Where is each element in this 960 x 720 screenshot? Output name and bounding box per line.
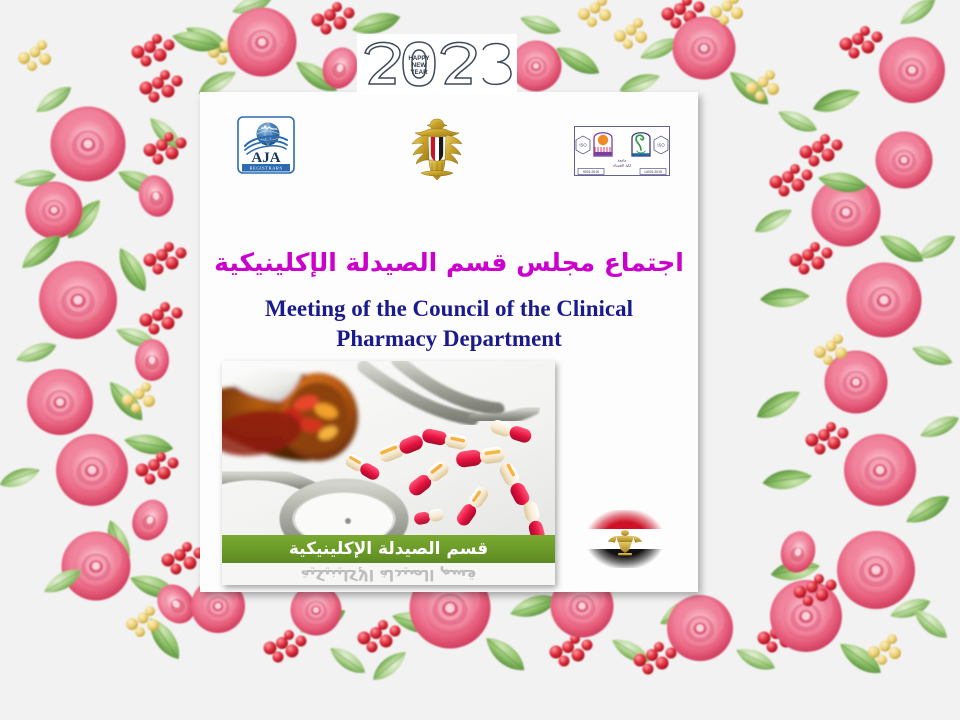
aja-acronym: AJA (251, 150, 280, 166)
university-faculty-logo: ISO ISO جامعة كل (574, 126, 670, 176)
banner-greeting-line3: YEAR (410, 69, 428, 76)
egypt-eagle-emblem (407, 116, 467, 182)
egypt-shield-icon (431, 137, 443, 162)
iso-right-label: ISO (657, 143, 665, 148)
aja-registrars-logo: AJA REGISTRARS (237, 116, 295, 174)
banner-greeting-line1: HAPPY (408, 55, 430, 62)
iso-code-right: 14001:2015 (644, 170, 662, 174)
iso-left-label: ISO (579, 143, 587, 148)
sun-rays-emblem (594, 133, 612, 156)
title-english-line1: Meeting of the Council of the Clinical (200, 294, 698, 324)
photo-caption-reflection: قسم الصيدلة الإكلينيكية (222, 563, 555, 585)
new-year-2023-banner: HAPPY NEW YEAR (357, 34, 517, 94)
title-arabic: اجتماع مجلس قسم الصيدلة الإكلينيكية (200, 248, 698, 277)
univ-caption-line2: كلية الصيدلة (613, 164, 632, 168)
title-english: Meeting of the Council of the Clinical P… (200, 294, 698, 354)
slide-canvas: HAPPY NEW YEAR (0, 0, 960, 720)
title-english-line2: Pharmacy Department (200, 324, 698, 354)
univ-caption-line1: جامعة (618, 159, 627, 163)
egypt-flag-icon (585, 510, 665, 568)
iso-code-left: 9001:2015 (583, 170, 599, 174)
pharmacy-photo: قسم الصيدلة الإكلينيكية قسم الصيدلة الإك… (222, 361, 555, 585)
aja-subtitle: REGISTRARS (249, 166, 282, 171)
banner-greeting-line2: NEW (412, 62, 427, 69)
photo-caption-banner: قسم الصيدلة الإكلينيكية (222, 535, 555, 563)
egypt-flag-badge (585, 508, 665, 570)
bowl-of-hygieia-emblem (632, 133, 650, 156)
